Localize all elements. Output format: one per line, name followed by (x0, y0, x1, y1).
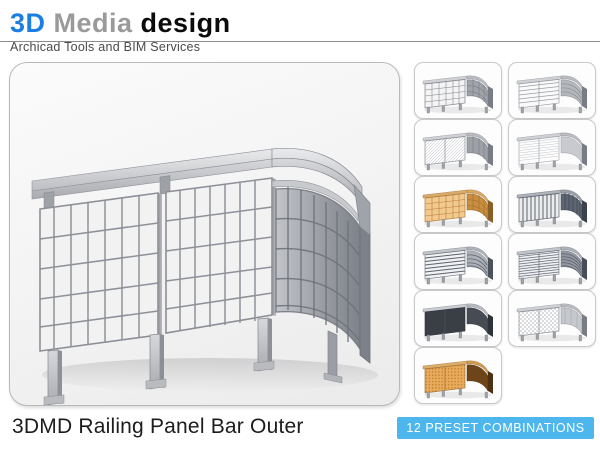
product-sheet: 3D Media design Archicad Tools and BIM S… (0, 0, 600, 450)
preset-thumb-11[interactable] (414, 347, 502, 404)
preset-count-badge: 12 PRESET COMBINATIONS (397, 417, 594, 439)
preset-thumb-1[interactable] (414, 62, 502, 119)
brand-part-3d: 3D (10, 8, 46, 38)
brand-logo: 3D Media design Archicad Tools and BIM S… (10, 8, 231, 55)
brand-tagline: Archicad Tools and BIM Services (10, 40, 231, 55)
preset-count-label: 12 PRESET COMBINATIONS (406, 421, 584, 435)
preset-thumb-4[interactable] (508, 119, 596, 176)
header-divider (0, 41, 600, 42)
preset-thumb-10[interactable] (508, 290, 596, 347)
preset-thumb-6[interactable] (508, 176, 596, 233)
railing-render (10, 63, 399, 405)
preset-thumbnail-grid[interactable] (414, 62, 594, 407)
preset-thumb-5[interactable] (414, 176, 502, 233)
preset-thumb-7[interactable] (414, 233, 502, 290)
page-title: 3DMD Railing Panel Bar Outer (12, 415, 304, 439)
preset-thumb-2[interactable] (508, 62, 596, 119)
brand-wordmark: 3D Media design (10, 8, 231, 38)
brand-part-media: Media (46, 8, 141, 38)
preset-thumb-9[interactable] (414, 290, 502, 347)
preset-thumb-slot-empty (508, 347, 594, 402)
brand-part-design: design (141, 8, 231, 38)
main-preview-panel[interactable] (9, 62, 400, 406)
preset-thumb-3[interactable] (414, 119, 502, 176)
preset-thumb-8[interactable] (508, 233, 596, 290)
